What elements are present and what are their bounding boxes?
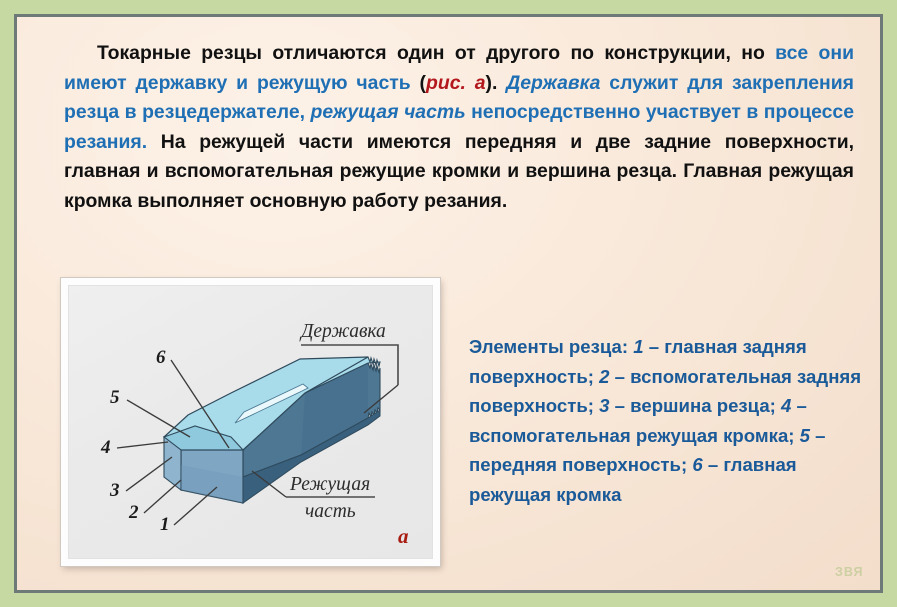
caption-seg-6: – вершина резца; — [610, 395, 782, 416]
slide-canvas: Токарные резцы отличаются один от другог… — [17, 17, 880, 590]
paragraph-run-0: Токарные резцы отличаются один от другог… — [97, 42, 775, 64]
callout-number-1: 1 — [160, 514, 170, 535]
body-paragraph: Токарные резцы отличаются один от другог… — [64, 39, 854, 216]
watermark-text: ЗВЯ — [835, 565, 864, 579]
paragraph-run-4: ). — [486, 72, 507, 94]
caption-seg-11: 6 — [692, 454, 702, 475]
callout-number-6: 6 — [156, 347, 166, 368]
paragraph-run-figure-ref: рис. а — [426, 72, 486, 94]
figure-letter: а — [398, 524, 409, 548]
lathe-cutter-drawing: 6 5 4 3 2 1 Державка Режущая часть а — [68, 285, 433, 559]
slide-inner-frame: Токарные резцы отличаются один от другог… — [14, 14, 883, 593]
paragraph-run-9: На режущей части имеются передняя и две … — [64, 131, 854, 212]
callout-number-3: 3 — [109, 480, 120, 501]
paragraph-run-rezhushchaya-chast: режущая часть — [311, 101, 466, 123]
callout-number-4: 4 — [100, 437, 111, 458]
slide-root: Токарные резцы отличаются один от другог… — [0, 0, 897, 607]
label-cutting-part-line1: Режущая — [289, 474, 370, 495]
caption-seg-1: 1 — [633, 336, 643, 357]
figure-image: 6 5 4 3 2 1 Державка Режущая часть а — [68, 285, 433, 559]
caption-seg-0: Элементы резца: — [469, 336, 633, 357]
leader-4 — [117, 442, 168, 448]
label-cutting-part-line2: часть — [305, 501, 356, 522]
caption-seg-3: 2 — [599, 366, 609, 387]
leader-2 — [144, 480, 181, 513]
figure-caption: Элементы резца: 1 – главная задняя повер… — [469, 332, 867, 510]
leader-5 — [127, 400, 190, 437]
caption-seg-5: 3 — [599, 395, 609, 416]
caption-seg-9: 5 — [800, 425, 810, 446]
label-holder: Державка — [299, 321, 386, 342]
paragraph-run-derzhavka: Державка — [506, 72, 600, 94]
callout-number-2: 2 — [128, 502, 139, 523]
callout-number-5: 5 — [110, 387, 120, 408]
caption-seg-7: 4 — [781, 395, 791, 416]
figure-card: 6 5 4 3 2 1 Державка Режущая часть а — [61, 278, 440, 566]
